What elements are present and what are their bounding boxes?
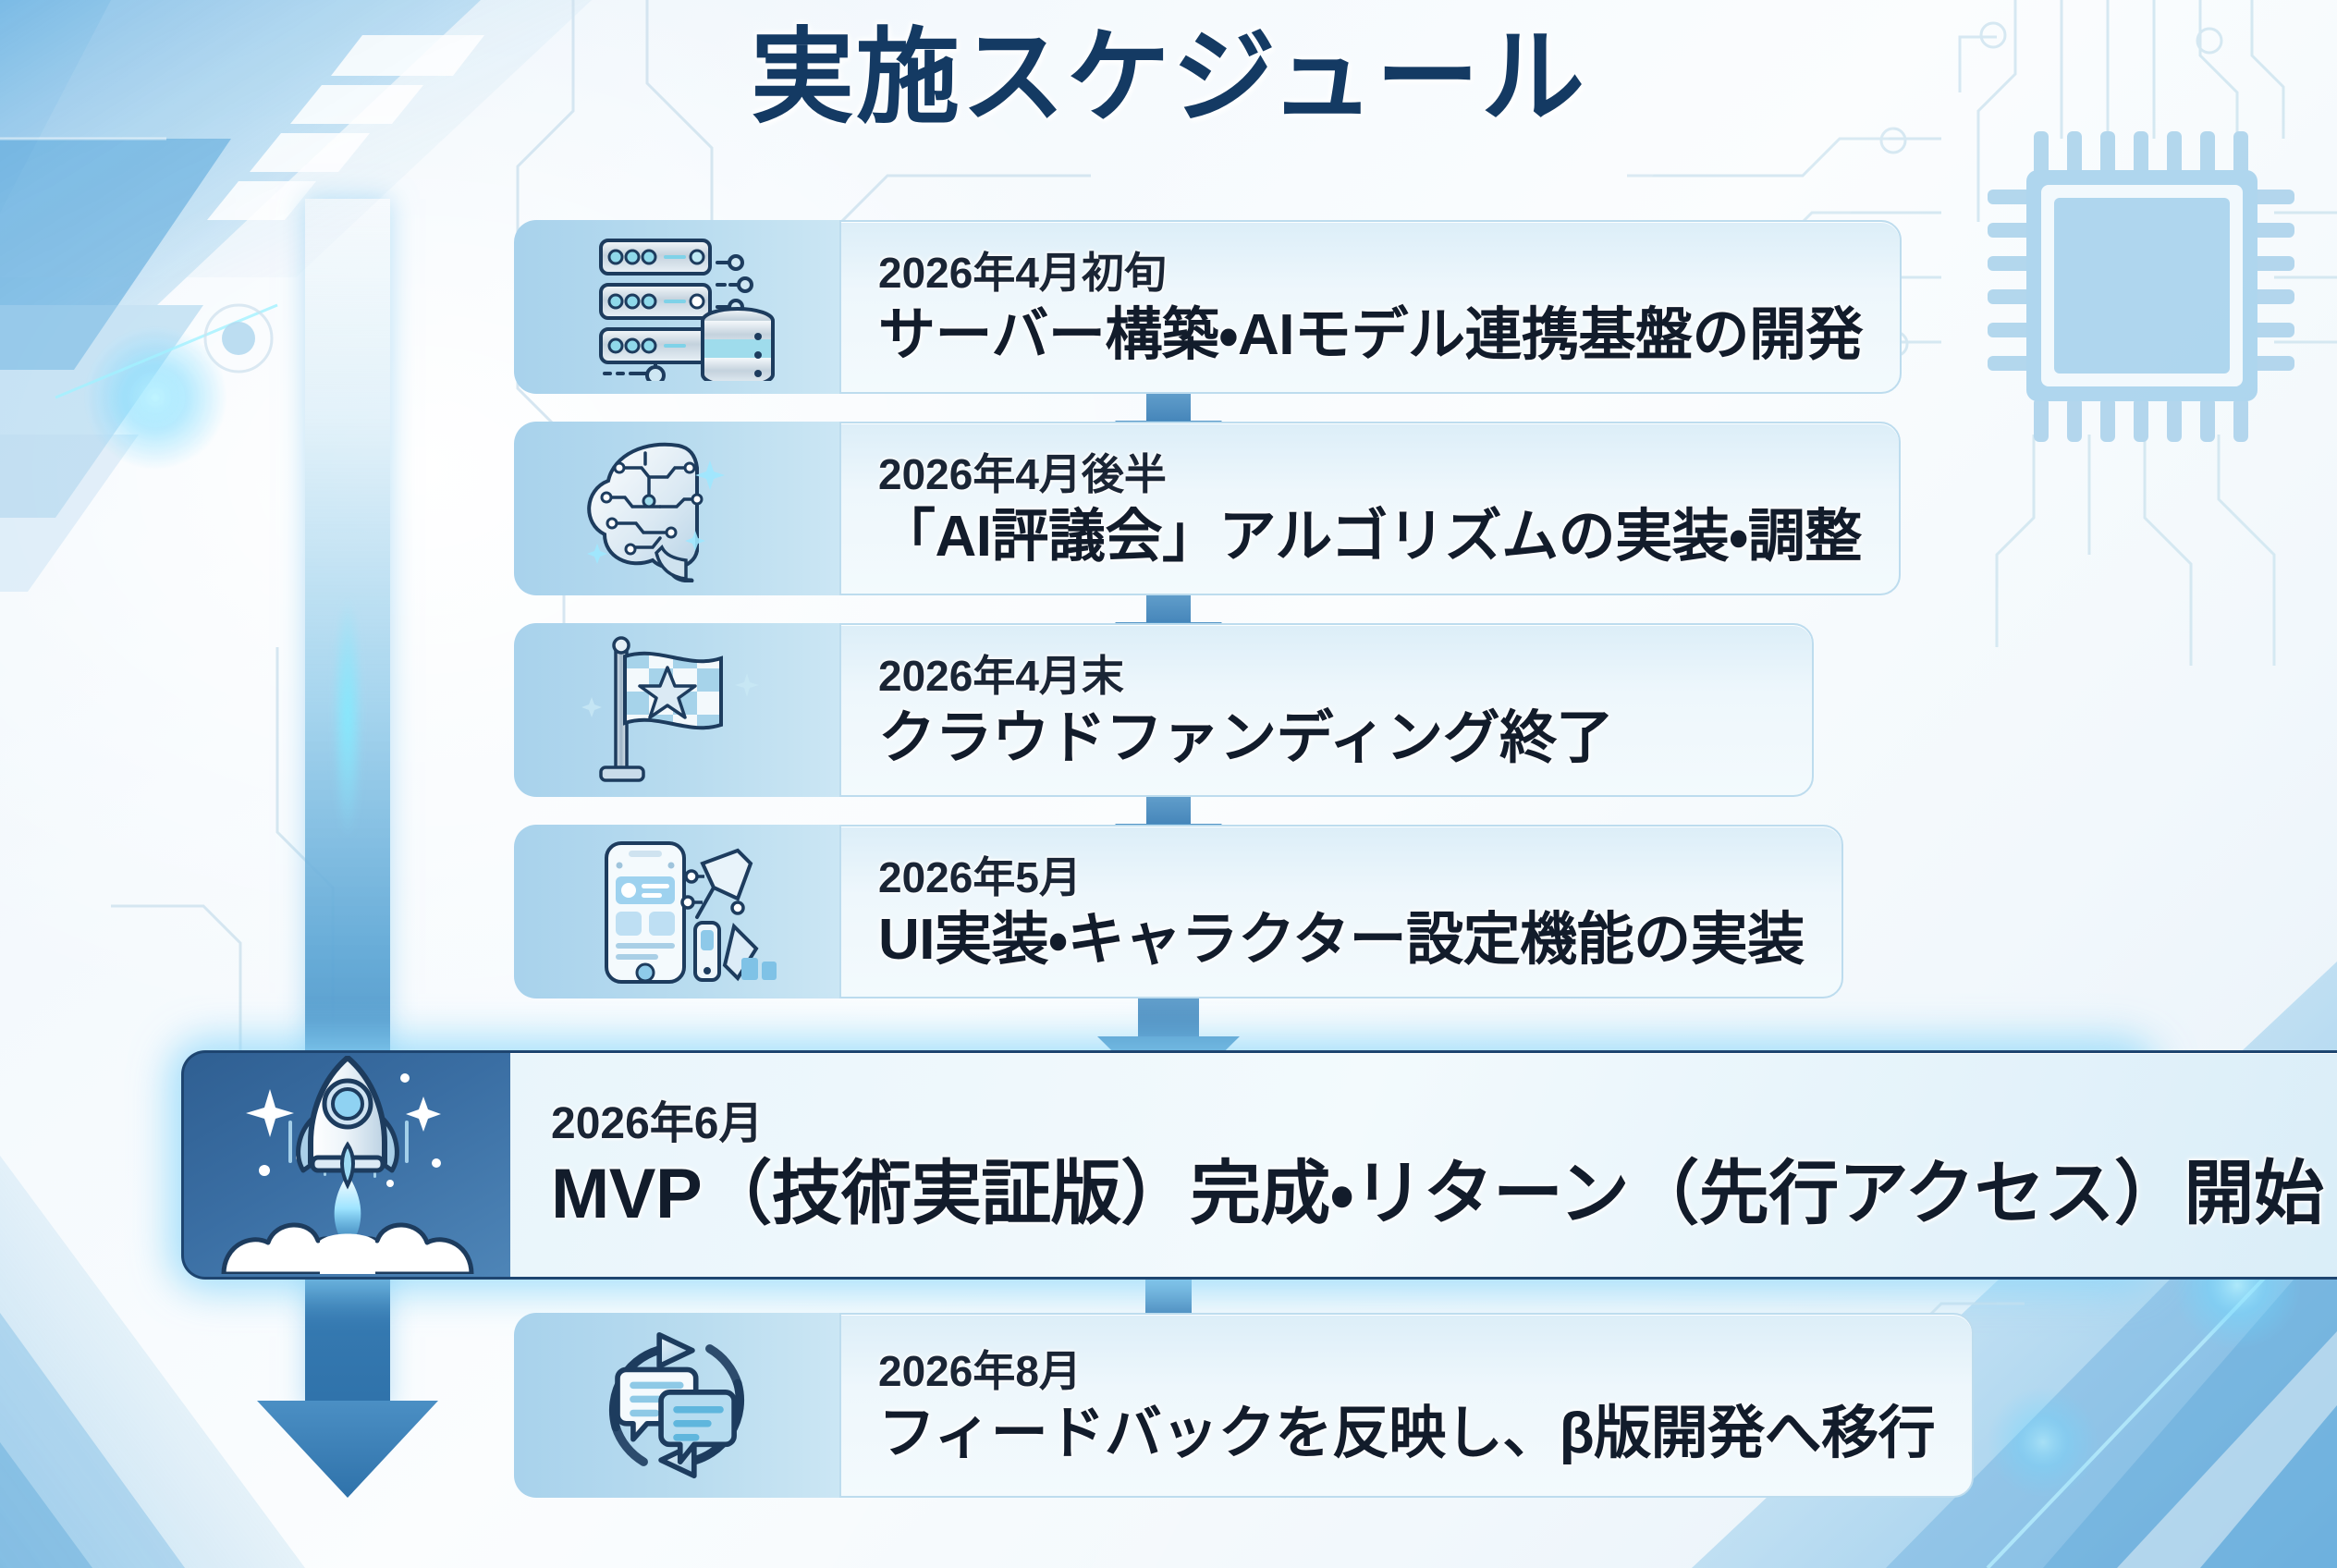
- step-description: 「AI評議会」アルゴリズムの実装・調整: [878, 503, 1862, 570]
- step-date: 2026年4月初旬: [878, 249, 1863, 298]
- step-description: MVP（技術実証版）完成・リターン（先行アクセス）開始: [551, 1153, 2323, 1236]
- step-description: フィードバックを反映し、β版開発へ移行: [878, 1400, 1935, 1467]
- step-description: クラウドファンディング終了: [878, 704, 1775, 772]
- step-text-card: 2026年4月末 クラウドファンディング終了: [839, 623, 1814, 797]
- step-text-card: 2026年8月 フィードバックを反映し、β版開発へ移行: [839, 1313, 1974, 1498]
- step-description: サーバー構築・AIモデル連携基盤の開発: [878, 301, 1863, 369]
- rocket-launch-icon: [209, 1056, 486, 1274]
- timeline-step-ai-algorithm[interactable]: 2026年4月後半 「AI評議会」アルゴリズムの実装・調整: [514, 422, 1814, 595]
- brain-circuit-icon: [557, 435, 797, 582]
- timeline-step-ui-implementation[interactable]: 2026年5月 UI実装・キャラクター設定機能の実装: [514, 825, 1814, 998]
- feedback-loop-icon: [557, 1331, 797, 1479]
- infographic-canvas: 実施スケジュール: [0, 0, 2337, 1568]
- step-text-card: 2026年5月 UI実装・キャラクター設定機能の実装: [839, 825, 1843, 998]
- step-text-card: 2026年4月後半 「AI評議会」アルゴリズムの実装・調整: [839, 422, 1901, 595]
- step-date: 2026年8月: [878, 1347, 1935, 1396]
- timeline-step-feedback-beta[interactable]: 2026年8月 フィードバックを反映し、β版開発へ移行: [514, 1313, 1814, 1498]
- step-text-card: 2026年4月初旬 サーバー構築・AIモデル連携基盤の開発: [839, 220, 1902, 394]
- mobile-design-icon: [557, 838, 797, 986]
- step-icon-container: [514, 825, 839, 998]
- step-date: 2026年6月: [551, 1098, 2323, 1149]
- step-date: 2026年5月: [878, 853, 1805, 902]
- timeline-step-mvp-release[interactable]: 2026年6月 MVP（技術実証版）完成・リターン（先行アクセス）開始: [181, 1050, 2147, 1280]
- step-icon-container: [514, 623, 839, 797]
- step-icon-container-highlight: [181, 1050, 510, 1280]
- server-database-icon: [557, 233, 797, 381]
- step-icon-container: [514, 220, 839, 394]
- checkered-flag-icon: [557, 636, 797, 784]
- step-date: 2026年4月末: [878, 652, 1775, 701]
- timeline-steps-list: 2026年4月初旬 サーバー構築・AIモデル連携基盤の開発: [0, 0, 2337, 1568]
- timeline-step-server[interactable]: 2026年4月初旬 サーバー構築・AIモデル連携基盤の開発: [514, 220, 1814, 394]
- step-date: 2026年4月後半: [878, 450, 1862, 499]
- timeline-step-crowdfunding-end[interactable]: 2026年4月末 クラウドファンディング終了: [514, 623, 1814, 797]
- step-text-card-highlight: 2026年6月 MVP（技術実証版）完成・リターン（先行アクセス）開始: [510, 1050, 2337, 1280]
- step-icon-container: [514, 422, 839, 595]
- page-title: 実施スケジュール: [0, 26, 2337, 129]
- step-icon-container: [514, 1313, 839, 1498]
- step-description: UI実装・キャラクター設定機能の実装: [878, 906, 1805, 974]
